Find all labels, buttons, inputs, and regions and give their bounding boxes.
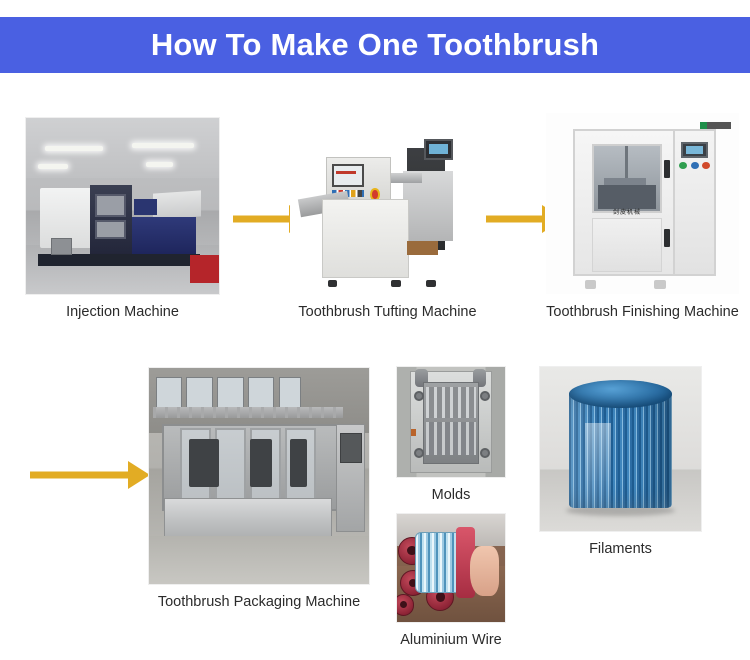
packaging-machine-photo xyxy=(148,367,370,585)
aluminium-wire-photo xyxy=(396,513,506,623)
arrow-3-icon xyxy=(30,461,150,489)
tufting-machine-caption: Toothbrush Tufting Machine xyxy=(290,304,485,320)
finishing-machine-caption: Toothbrush Finishing Machine xyxy=(545,304,740,320)
step-injection-machine: Injection Machine xyxy=(25,117,220,320)
injection-machine-caption: Injection Machine xyxy=(25,304,220,320)
material-molds: Molds xyxy=(396,366,506,503)
molds-caption: Molds xyxy=(396,487,506,503)
infographic-page: How To Make One Toothbrush xyxy=(0,0,750,660)
material-aluminium-wire: Aluminium Wire xyxy=(396,513,506,648)
step-packaging-machine: Toothbrush Packaging Machine xyxy=(148,367,370,610)
filaments-photo xyxy=(539,366,702,532)
page-title: How To Make One Toothbrush xyxy=(151,27,599,63)
packaging-machine-caption: Toothbrush Packaging Machine xyxy=(148,594,370,610)
step-finishing-machine: 剑皮机械 Toothbrush Finishing Machine xyxy=(545,112,740,320)
tufting-machine-photo xyxy=(290,117,485,295)
header-banner: How To Make One Toothbrush xyxy=(0,17,750,73)
finishing-machine-photo: 剑皮机械 xyxy=(545,112,740,295)
filaments-caption: Filaments xyxy=(539,541,702,557)
injection-machine-photo xyxy=(25,117,220,295)
molds-photo xyxy=(396,366,506,478)
step-tufting-machine: Toothbrush Tufting Machine xyxy=(290,117,485,320)
aluminium-wire-caption: Aluminium Wire xyxy=(396,632,506,648)
material-filaments: Filaments xyxy=(539,366,702,557)
